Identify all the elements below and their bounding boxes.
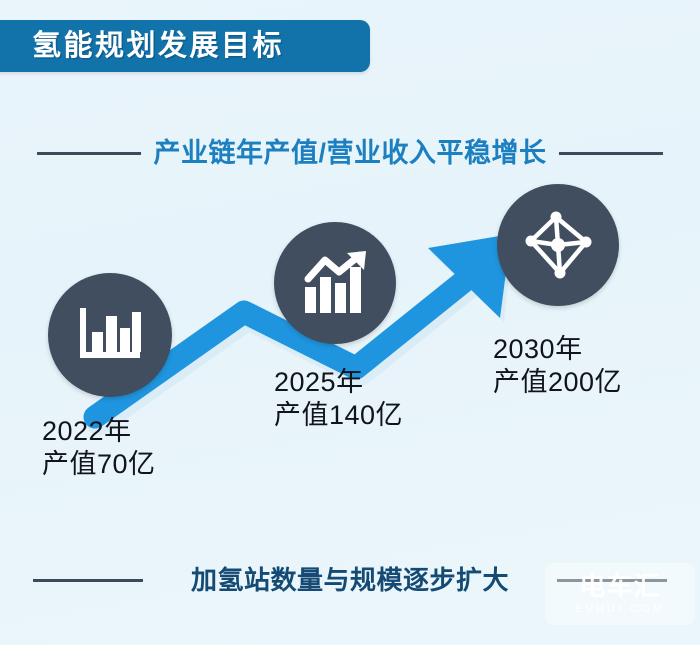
- milestone-node-2030[interactable]: [497, 184, 619, 306]
- milestone-node-2025[interactable]: [274, 222, 396, 344]
- network-node-icon: [523, 210, 593, 280]
- watermark-domain: EVHUI.COM: [575, 604, 664, 615]
- milestone-label-2030: 2030年 产值200亿: [493, 333, 622, 399]
- title-banner: 氢能规划发展目标: [0, 20, 370, 72]
- page-title: 氢能规划发展目标: [32, 32, 284, 61]
- bottom-section-heading-text: 加氢站数量与规模逐步扩大: [191, 567, 509, 593]
- watermark: 电车汇 EVHUI.COM: [545, 563, 695, 625]
- top-section-heading: 产业链年产值/营业收入平稳增长: [0, 131, 700, 175]
- heading-rule-right: [559, 152, 663, 155]
- milestone-label-2025: 2025年 产值140亿: [274, 366, 403, 432]
- heading-rule-left: [37, 152, 141, 155]
- infographic-canvas: 氢能规划发展目标 产业链年产值/营业收入平稳增长: [0, 0, 700, 645]
- milestone-year: 2022年: [42, 415, 156, 448]
- bar-chart-icon: [76, 304, 144, 366]
- top-section-heading-text: 产业链年产值/营业收入平稳增长: [153, 140, 546, 167]
- milestone-value: 产值70亿: [42, 448, 156, 481]
- milestone-value: 产值200亿: [493, 366, 622, 399]
- watermark-brand: 电车汇: [579, 573, 660, 599]
- milestone-year: 2025年: [274, 366, 403, 399]
- milestone-value: 产值140亿: [274, 399, 403, 432]
- growth-chart-icon: [301, 251, 369, 315]
- bottom-heading-rule-left: [33, 579, 143, 582]
- milestone-year: 2030年: [493, 333, 622, 366]
- milestone-node-2022[interactable]: [48, 273, 172, 397]
- milestone-label-2022: 2022年 产值70亿: [42, 415, 156, 481]
